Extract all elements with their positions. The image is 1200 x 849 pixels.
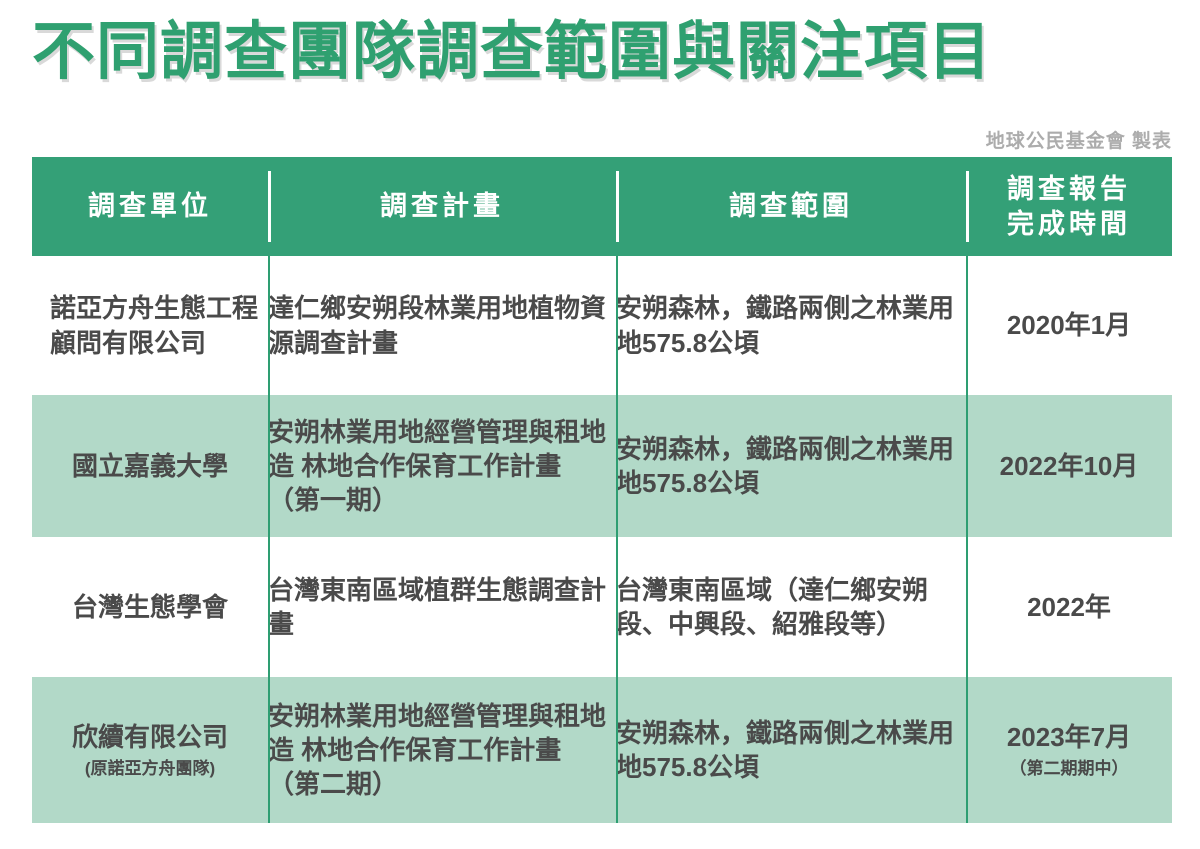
column-header-date-line1: 調查報告 (966, 172, 1172, 207)
cell-plan-text: 安朔林業用地經營管理與租地造 林地合作保育工作計畫 （第一期） (268, 417, 606, 516)
cell-unit: 諾亞方舟生態工程顧問有限公司 (32, 256, 268, 395)
column-header-date-line2: 完成時間 (966, 207, 1172, 242)
table-row: 台灣生態學會 台灣東南區域植群生態調查計畫 台灣東南區域（達仁鄉安朔段、中興段、… (32, 537, 1172, 677)
page-title: 不同調查團隊調查範圍與關注項目 (32, 18, 1172, 86)
row-divider-1 (268, 395, 270, 537)
cell-date-subtext: （第二期期中） (966, 758, 1172, 780)
cell-date: 2020年1月 (966, 256, 1172, 395)
column-header-unit-label: 調查單位 (88, 191, 212, 221)
row-divider-3 (966, 395, 968, 537)
header-divider-1 (268, 171, 271, 242)
credit-text: 地球公民基金會 製表 (986, 126, 1172, 153)
cell-plan: 安朔林業用地經營管理與租地造 林地合作保育工作計畫 （第一期） (268, 395, 616, 537)
title-block: 不同調查團隊調查範圍與關注項目 地球公民基金會 製表 (32, 18, 1172, 86)
row-divider-3 (966, 537, 968, 677)
column-header-unit: 調查單位 (32, 157, 268, 256)
table-row: 國立嘉義大學 安朔林業用地經營管理與租地造 林地合作保育工作計畫 （第一期） 安… (32, 395, 1172, 537)
cell-plan-text: 安朔林業用地經營管理與租地造 林地合作保育工作計畫 （第二期） (268, 701, 606, 800)
column-header-plan-label: 調查計畫 (380, 191, 504, 221)
column-header-plan: 調查計畫 (268, 157, 616, 256)
cell-scope: 安朔森林，鐵路兩側之林業用地575.8公頃 (616, 256, 966, 395)
column-header-date: 調查報告 完成時間 (966, 157, 1172, 256)
column-header-scope-label: 調查範圍 (729, 191, 853, 221)
cell-date-text: 2023年7月 (1007, 722, 1131, 752)
cell-scope-text: 安朔森林，鐵路兩側之林業用地575.8公頃 (616, 293, 954, 357)
row-divider-3 (966, 256, 968, 395)
row-divider-2 (616, 395, 618, 537)
cell-unit-subtext: (原諾亞方舟團隊) (32, 758, 268, 780)
cell-plan: 達仁鄉安朔段林業用地植物資源調查計畫 (268, 256, 616, 395)
header-divider-3 (966, 171, 969, 242)
cell-date: 2022年 (966, 537, 1172, 677)
cell-scope-text: 安朔森林，鐵路兩側之林業用地575.8公頃 (616, 718, 954, 782)
cell-scope: 安朔森林，鐵路兩側之林業用地575.8公頃 (616, 677, 966, 823)
row-divider-3 (966, 677, 968, 823)
cell-plan-text: 台灣東南區域植群生態調查計畫 (268, 575, 606, 639)
cell-scope-text: 台灣東南區域（達仁鄉安朔段、中興段、紹雅段等） (616, 575, 928, 639)
cell-unit: 欣續有限公司 (原諾亞方舟團隊) (32, 677, 268, 823)
table-row: 諾亞方舟生態工程顧問有限公司 達仁鄉安朔段林業用地植物資源調查計畫 安朔森林，鐵… (32, 256, 1172, 395)
cell-date: 2022年10月 (966, 395, 1172, 537)
table-header-row: 調查單位 調查計畫 調查範圍 調查報告 完成時間 (32, 157, 1172, 256)
row-divider-2 (616, 537, 618, 677)
table-row: 欣續有限公司 (原諾亞方舟團隊) 安朔林業用地經營管理與租地造 林地合作保育工作… (32, 677, 1172, 823)
cell-plan: 台灣東南區域植群生態調查計畫 (268, 537, 616, 677)
row-divider-1 (268, 537, 270, 677)
cell-scope: 安朔森林，鐵路兩側之林業用地575.8公頃 (616, 395, 966, 537)
cell-date-text: 2022年 (1027, 592, 1111, 622)
header-divider-2 (616, 171, 619, 242)
column-header-scope: 調查範圍 (616, 157, 966, 256)
cell-date-text: 2020年1月 (1007, 310, 1131, 340)
row-divider-2 (616, 677, 618, 823)
row-divider-1 (268, 256, 270, 395)
cell-unit-text: 欣續有限公司 (72, 722, 228, 752)
row-divider-2 (616, 256, 618, 395)
cell-scope: 台灣東南區域（達仁鄉安朔段、中興段、紹雅段等） (616, 537, 966, 677)
cell-date-text: 2022年10月 (1000, 451, 1139, 481)
cell-unit: 國立嘉義大學 (32, 395, 268, 537)
cell-scope-text: 安朔森林，鐵路兩側之林業用地575.8公頃 (616, 434, 954, 498)
cell-date: 2023年7月 （第二期期中） (966, 677, 1172, 823)
survey-comparison-table: 調查單位 調查計畫 調查範圍 調查報告 完成時間 諾亞方舟生態工程顧問有限公司 … (32, 157, 1172, 823)
cell-plan-text: 達仁鄉安朔段林業用地植物資源調查計畫 (268, 293, 606, 357)
cell-unit: 台灣生態學會 (32, 537, 268, 677)
row-divider-1 (268, 677, 270, 823)
cell-plan: 安朔林業用地經營管理與租地造 林地合作保育工作計畫 （第二期） (268, 677, 616, 823)
